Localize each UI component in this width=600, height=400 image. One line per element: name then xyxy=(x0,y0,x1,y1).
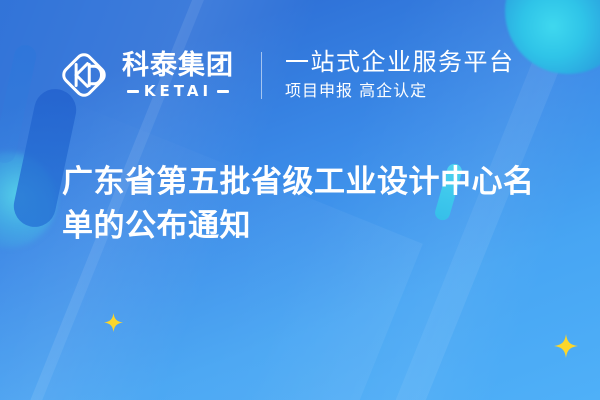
ketai-diamond-monogram-icon xyxy=(56,47,112,103)
brand-name-en: KETAI xyxy=(144,84,212,99)
slogan-block: 一站式企业服务平台 项目申报 高企认定 xyxy=(285,48,515,101)
banner-header: 科泰集团 KETAI 一站式企业服务平台 项目申报 高企认定 xyxy=(0,34,600,116)
dash-right-icon xyxy=(217,90,229,93)
brand-name-en-row: KETAI xyxy=(122,84,234,99)
article-banner: 科泰集团 KETAI 一站式企业服务平台 项目申报 高企认定 广东省第五批省级工… xyxy=(0,0,600,400)
slogan-secondary: 项目申报 高企认定 xyxy=(285,81,515,102)
page-title: 广东省第五批省级工业设计中心名单的公布通知 xyxy=(62,160,548,248)
brand-name-cn: 科泰集团 xyxy=(122,52,234,80)
teal-glow-decoration xyxy=(0,152,56,248)
brand-logo[interactable]: 科泰集团 KETAI xyxy=(56,47,234,103)
slogan-primary: 一站式企业服务平台 xyxy=(285,48,515,76)
sparkle-star-icon xyxy=(554,334,578,358)
brand-wordmark: 科泰集团 KETAI xyxy=(122,52,234,98)
sparkle-star-icon xyxy=(104,313,123,332)
vertical-divider xyxy=(261,52,262,99)
dash-left-icon xyxy=(127,90,139,93)
